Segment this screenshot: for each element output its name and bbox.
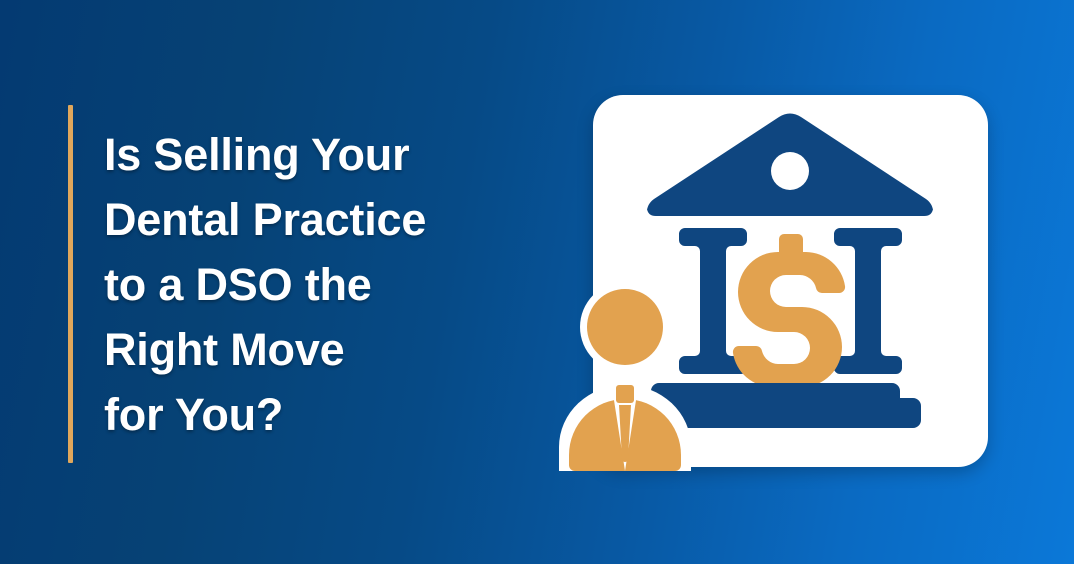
promo-banner: Is Selling Your Dental Practice to a DSO… <box>0 0 1074 564</box>
headline-line-4: Right Move <box>104 317 426 382</box>
businessman-tie-knot <box>616 385 634 403</box>
right-column <box>834 228 902 374</box>
headline-line-5: for You? <box>104 382 426 447</box>
accent-rule-divider <box>68 105 73 463</box>
bank-roof-pediment <box>647 114 933 217</box>
page-title: Is Selling Your Dental Practice to a DSO… <box>104 122 426 447</box>
headline-line-3: to a DSO the <box>104 252 426 317</box>
headline-line-2: Dental Practice <box>104 187 426 252</box>
businessman-figure <box>559 282 691 471</box>
headline-line-1: Is Selling Your <box>104 122 426 187</box>
pediment-oculus <box>771 152 809 190</box>
dollar-sign-icon <box>733 234 845 405</box>
bank-illustration-svg <box>593 95 988 467</box>
bank-base-platform <box>651 383 921 428</box>
headline-block: Is Selling Your Dental Practice to a DSO… <box>68 105 538 463</box>
businessman-head <box>587 289 663 365</box>
bank-with-businessman-icon <box>593 95 988 467</box>
